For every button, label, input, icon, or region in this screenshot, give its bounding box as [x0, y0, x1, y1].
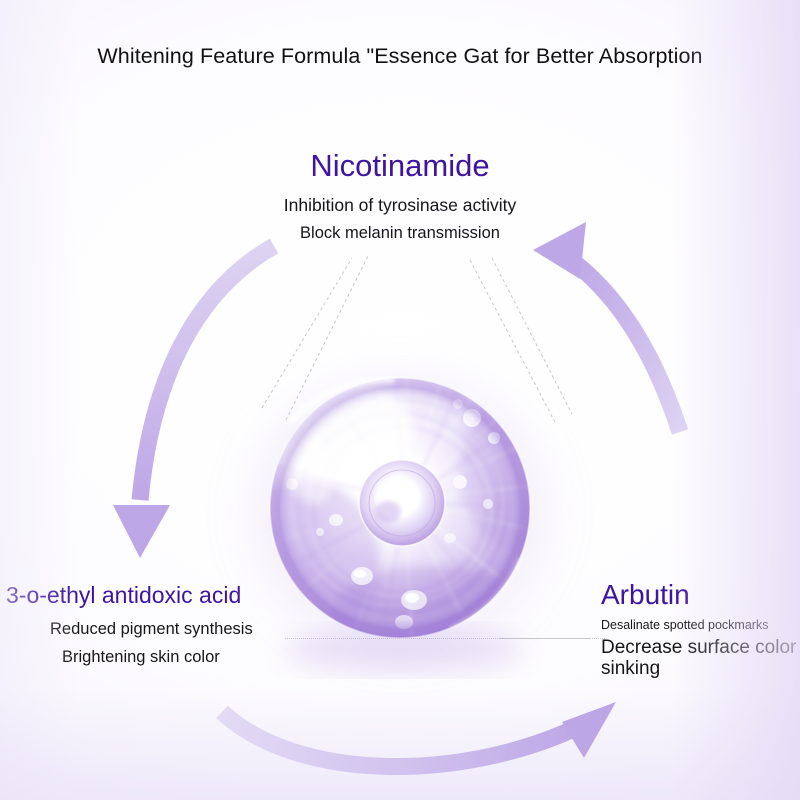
arrow-bottom-right [222, 702, 616, 767]
whitening-formula-poster: Whitening Feature Formula "Essence Gat f… [0, 0, 800, 800]
cycle-arrows [0, 0, 800, 800]
arrow-right-up [533, 222, 680, 432]
arrow-left-down [113, 246, 274, 558]
